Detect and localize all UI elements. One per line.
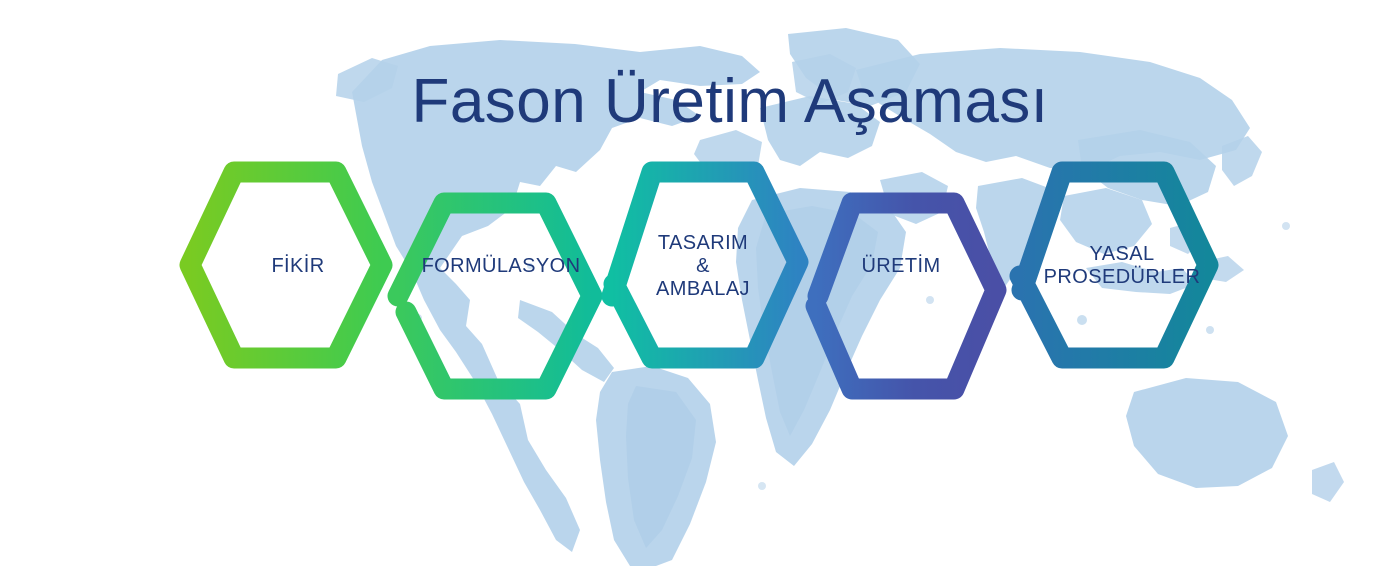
stage-label-formulasyon: FORMÜLASYON bbox=[422, 255, 581, 277]
stage-label-tasarim-line-1: TASARIM bbox=[658, 232, 748, 254]
stage-label-yasal-line-2: PROSEDÜRLER bbox=[1044, 266, 1201, 288]
stage-label-tasarim-line-2: & bbox=[696, 255, 710, 277]
stage-label-yasal-prosedurler: YASAL PROSEDÜRLER bbox=[1044, 243, 1201, 288]
stage-label-yasal-line-1: YASAL bbox=[1090, 243, 1155, 265]
stage-label-tasarim-ambalaj: TASARIM & AMBALAJ bbox=[656, 232, 750, 300]
infographic-canvas: Fason Üretim Aşaması bbox=[0, 0, 1400, 566]
stage-label-fikir: FİKİR bbox=[271, 254, 324, 277]
stage-label-uretim: ÜRETİM bbox=[861, 254, 940, 277]
stage-labels-layer: FİKİR FORMÜLASYON TASARIM & AMBALAJ ÜRET… bbox=[0, 0, 1400, 566]
stage-label-tasarim-line-3: AMBALAJ bbox=[656, 278, 750, 300]
